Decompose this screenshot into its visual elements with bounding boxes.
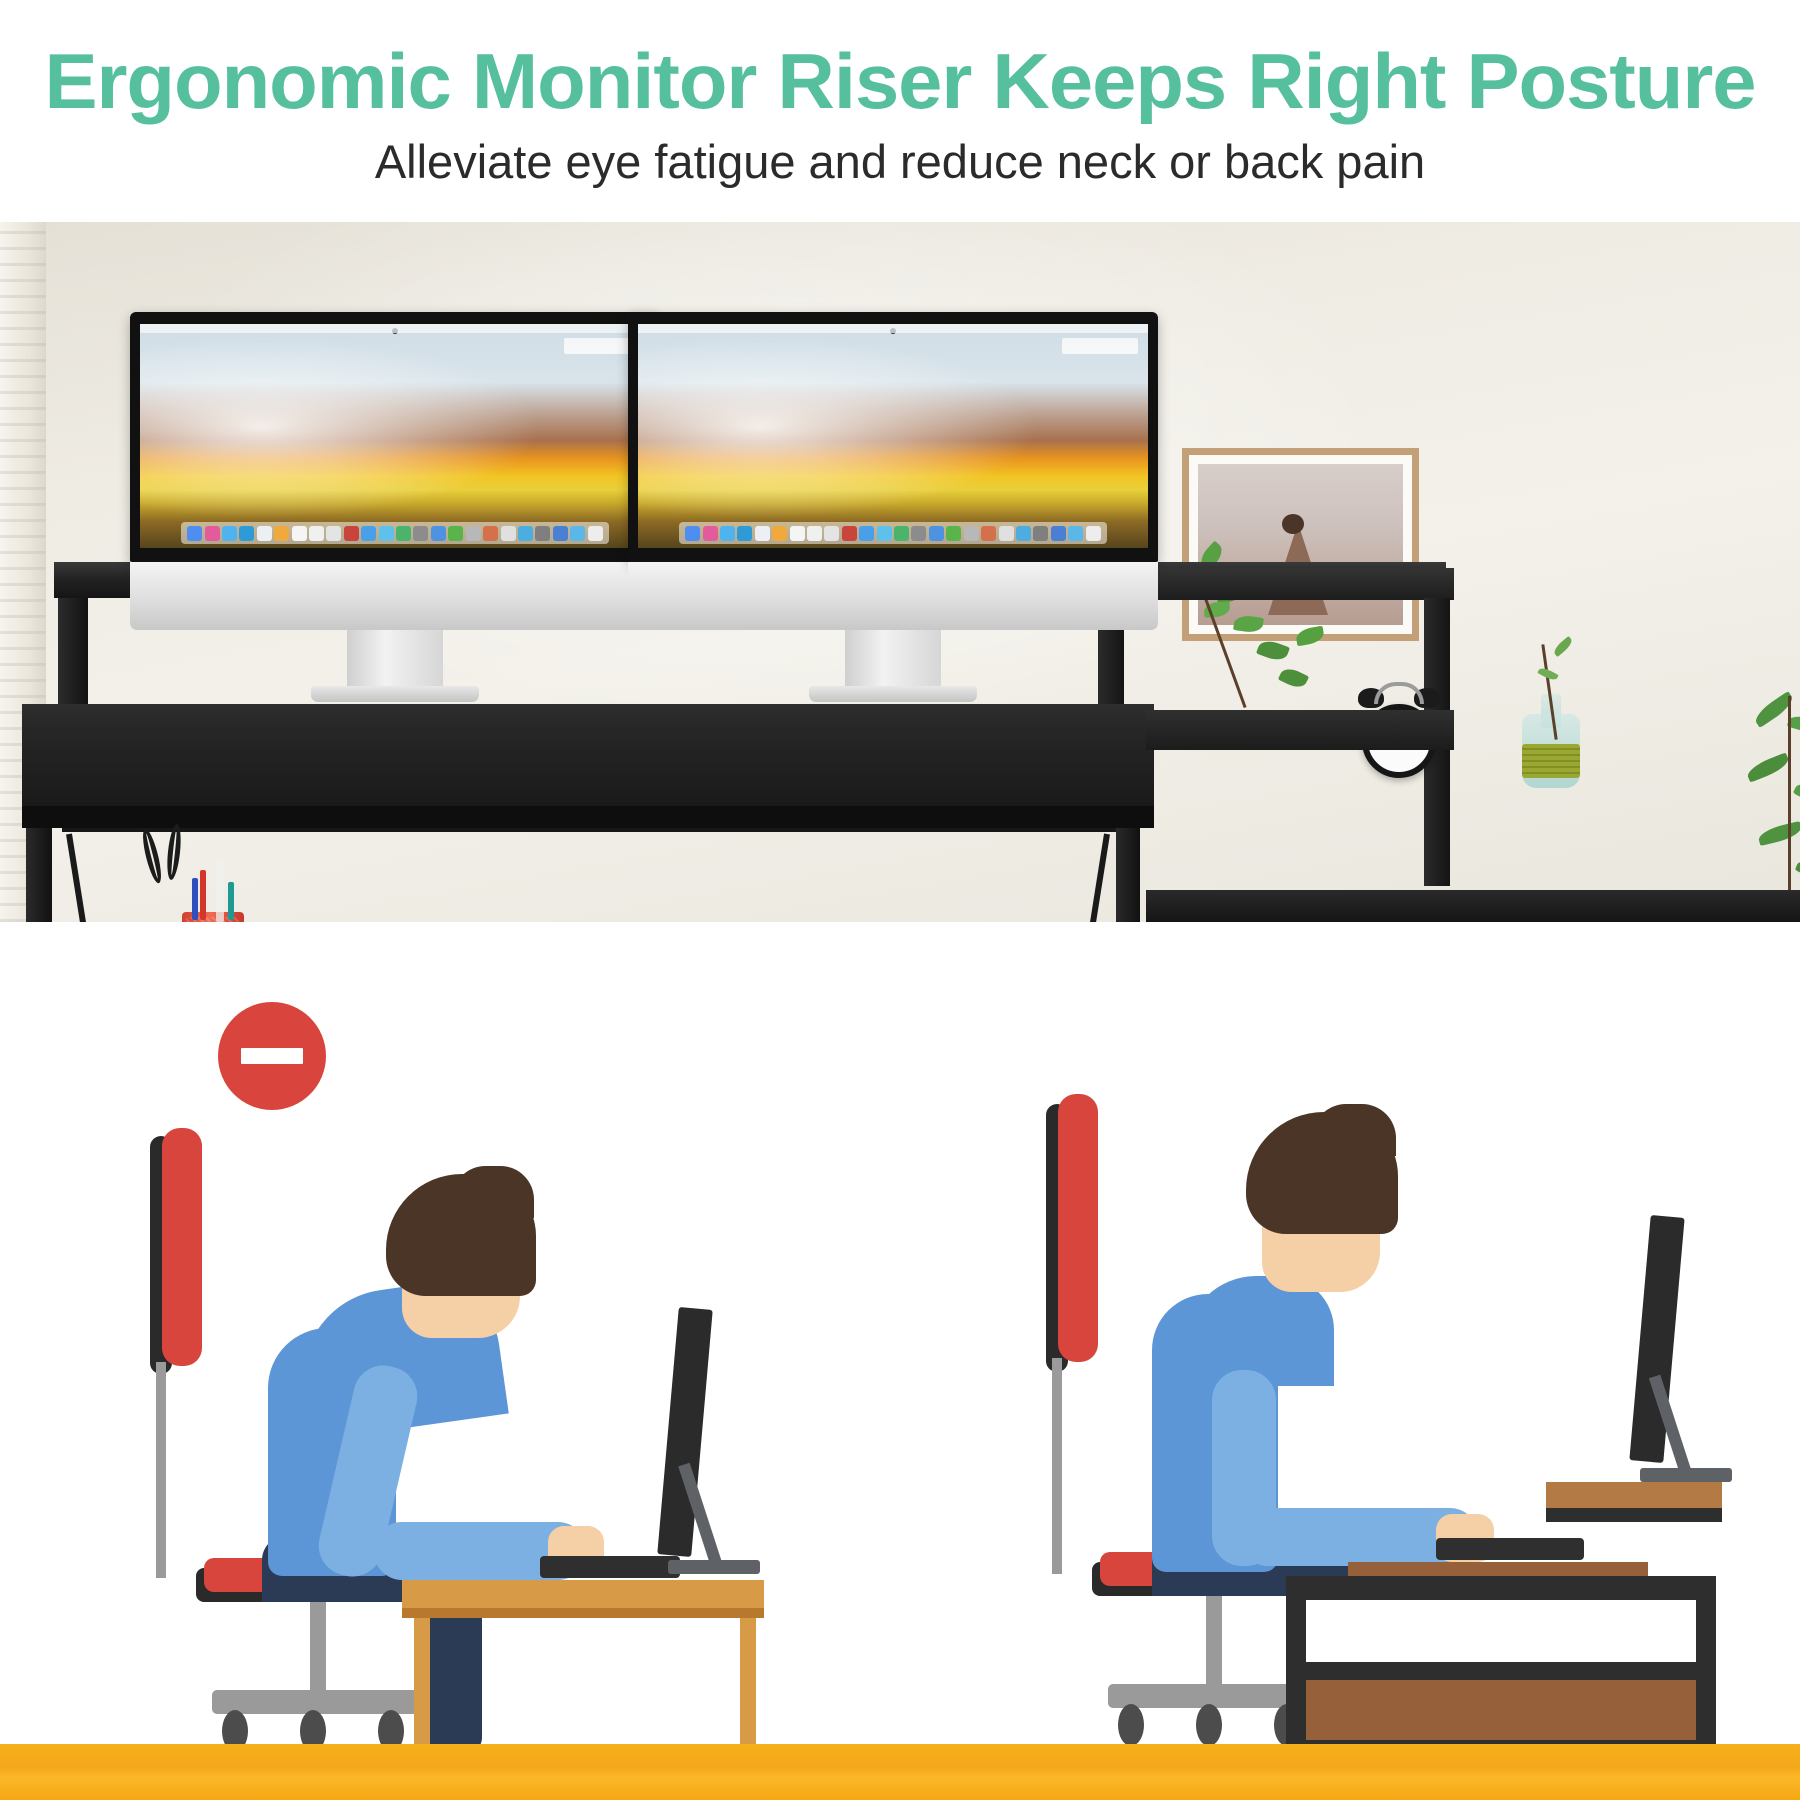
dock-icon xyxy=(911,526,926,541)
monitor-right xyxy=(628,312,1158,702)
dock-icon xyxy=(501,526,516,541)
dock-icon xyxy=(344,526,359,541)
dock-icon xyxy=(790,526,805,541)
dock-icon xyxy=(807,526,822,541)
dock-icon xyxy=(274,526,289,541)
dock-icon xyxy=(1033,526,1048,541)
dock-icon xyxy=(877,526,892,541)
dock-icon xyxy=(588,526,603,541)
dock-icon xyxy=(239,526,254,541)
dock-icon xyxy=(755,526,770,541)
dock-icon xyxy=(205,526,220,541)
dock-icon xyxy=(824,526,839,541)
dock-icon xyxy=(396,526,411,541)
dock-icon xyxy=(379,526,394,541)
desk-top-right-extension xyxy=(1146,710,1454,750)
riser-shelf-top-right xyxy=(1106,568,1454,600)
glass-vase xyxy=(1522,692,1580,788)
dock-icon xyxy=(929,526,944,541)
dock-icon xyxy=(1086,526,1101,541)
dock-icon xyxy=(894,526,909,541)
dock-icon xyxy=(431,526,446,541)
posture-comparison-panel xyxy=(0,922,1800,1800)
dock-icon xyxy=(720,526,735,541)
dock-icon xyxy=(413,526,428,541)
dock-icon xyxy=(703,526,718,541)
dock-icon xyxy=(1068,526,1083,541)
dock-icon xyxy=(309,526,324,541)
dock-icon xyxy=(859,526,874,541)
dock-icon xyxy=(292,526,307,541)
dock-icon xyxy=(737,526,752,541)
page-subtitle: Alleviate eye fatigue and reduce neck or… xyxy=(0,138,1800,185)
dock-icon xyxy=(361,526,376,541)
dock-icon xyxy=(222,526,237,541)
product-marketing-image: Ergonomic Monitor Riser Keeps Right Post… xyxy=(0,0,1800,1800)
dock-icon xyxy=(466,526,481,541)
lower-shelf xyxy=(1146,890,1800,922)
desk-leg-right xyxy=(1116,828,1140,922)
header-banner: Ergonomic Monitor Riser Keeps Right Post… xyxy=(0,0,1800,222)
dock-right xyxy=(679,522,1107,544)
dock-icon xyxy=(981,526,996,541)
floor-strip xyxy=(0,1744,1800,1800)
dock-icon xyxy=(483,526,498,541)
ruler xyxy=(216,860,224,922)
dock-icon xyxy=(842,526,857,541)
monitor-left xyxy=(130,312,660,702)
dock-icon xyxy=(187,526,202,541)
dock-icon xyxy=(326,526,341,541)
dock-left xyxy=(181,522,609,544)
page-title: Ergonomic Monitor Riser Keeps Right Post… xyxy=(0,42,1800,120)
dock-icon xyxy=(448,526,463,541)
dock-icon xyxy=(535,526,550,541)
product-photo-scene: DESIGN ANTHOLOGY THRIFT Q EPSON EPSON xyxy=(0,222,1800,922)
olive-branch-right xyxy=(1742,696,1800,922)
dock-icon xyxy=(964,526,979,541)
dock-icon xyxy=(999,526,1014,541)
dock-icon xyxy=(570,526,585,541)
pen-red xyxy=(200,870,206,920)
desk-top-surface xyxy=(22,704,1154,806)
good-posture-figure xyxy=(940,922,1800,1800)
dock-icon xyxy=(518,526,533,541)
desk-front-edge xyxy=(22,806,1154,828)
dock-icon xyxy=(946,526,961,541)
dock-icon xyxy=(1051,526,1066,541)
dock-icon xyxy=(257,526,272,541)
dock-icon xyxy=(685,526,700,541)
dock-icon xyxy=(1016,526,1031,541)
desk-leg-left xyxy=(26,828,52,922)
pen-blue xyxy=(192,878,198,920)
dock-icon xyxy=(772,526,787,541)
desk-brace xyxy=(62,828,1118,832)
bad-posture-figure xyxy=(0,922,860,1800)
dock-icon xyxy=(553,526,568,541)
no-entry-icon xyxy=(218,1002,326,1110)
pen-teal xyxy=(228,882,234,920)
